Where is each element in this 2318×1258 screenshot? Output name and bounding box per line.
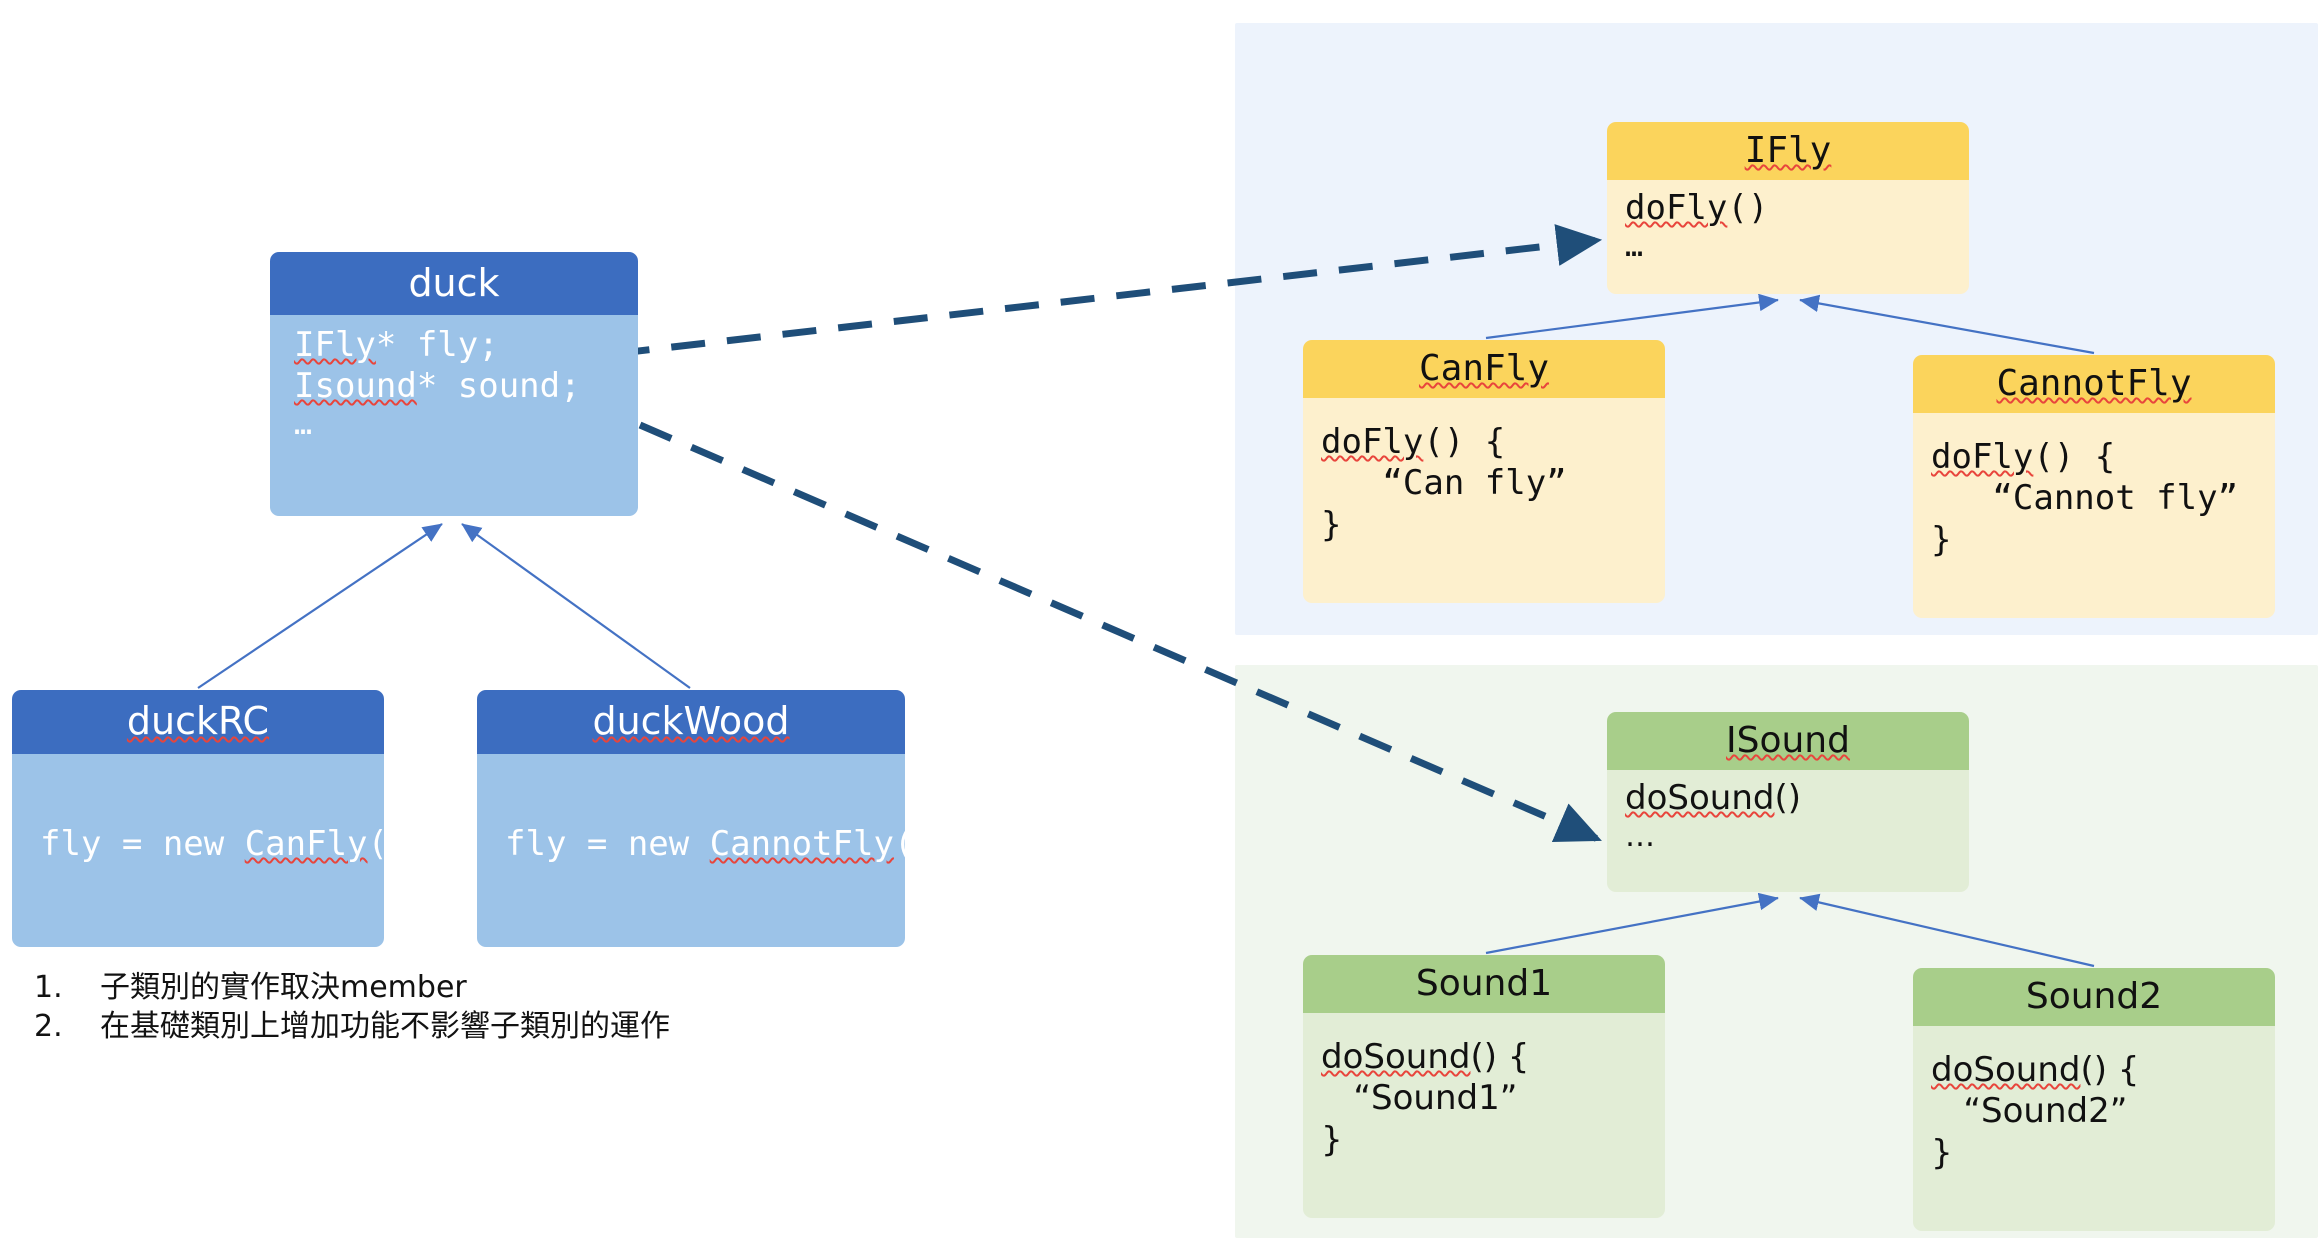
class-box-duckrc[interactable]: duckRC fly = new CanFly() [12, 690, 384, 947]
class-body-isound: doSound() … [1607, 770, 1969, 892]
member-line: Isound* sound; [294, 366, 638, 407]
member-line-ellipsis: … [1625, 229, 1969, 266]
member-line: IFly* fly; [294, 325, 638, 366]
class-box-canfly[interactable]: CanFly doFly() { “Can fly” } [1303, 340, 1665, 603]
class-title-duck: duck [270, 252, 638, 315]
member-line: doSound() { [1931, 1050, 2275, 1091]
class-box-ifly[interactable]: IFly doFly() … [1607, 122, 1969, 294]
member-line: fly = new CannotFly() [505, 824, 905, 865]
class-body-duck: IFly* fly; Isound* sound; … [270, 315, 638, 516]
member-line: doFly() { [1931, 437, 2275, 478]
class-body-cannotfly: doFly() { “Cannot fly” } [1913, 413, 2275, 618]
class-body-sound2: doSound() { “Sound2” } [1913, 1026, 2275, 1231]
class-title-sound1: Sound1 [1303, 955, 1665, 1013]
inheritance-duck-children [198, 524, 690, 688]
class-body-duckrc: fly = new CanFly() [12, 754, 384, 947]
member-line: “Sound2” [1931, 1091, 2275, 1132]
class-title-ifly: IFly [1607, 122, 1969, 180]
member-line: “Can fly” [1321, 463, 1665, 504]
class-title-canfly: CanFly [1303, 340, 1665, 398]
class-box-sound2[interactable]: Sound2 doSound() { “Sound2” } [1913, 968, 2275, 1231]
member-line-ellipsis: … [1625, 819, 1969, 856]
list-item: 1. 子類別的實作取決member [34, 968, 894, 1007]
member-line: doSound() { [1321, 1037, 1665, 1078]
class-box-duck[interactable]: duck IFly* fly; Isound* sound; … [270, 252, 638, 516]
class-title-isound: ISound [1607, 712, 1969, 770]
note-number: 1. [34, 968, 100, 1007]
member-line: fly = new CanFly() [40, 824, 384, 865]
note-text: 在基礎類別上增加功能不影響子類別的運作 [100, 1007, 894, 1046]
class-body-duckwood: fly = new CannotFly() [477, 754, 905, 947]
notes-list: 1. 子類別的實作取決member 2. 在基礎類別上增加功能不影響子類別的運作 [34, 968, 894, 1046]
class-box-sound1[interactable]: Sound1 doSound() { “Sound1” } [1303, 955, 1665, 1218]
member-line: “Cannot fly” [1931, 478, 2275, 519]
list-item: 2. 在基礎類別上增加功能不影響子類別的運作 [34, 1007, 894, 1046]
member-line: doFly() [1625, 188, 1969, 229]
member-line: “Sound1” [1321, 1078, 1665, 1119]
member-line: } [1321, 505, 1665, 546]
member-line: doFly() { [1321, 422, 1665, 463]
class-box-cannotfly[interactable]: CannotFly doFly() { “Cannot fly” } [1913, 355, 2275, 618]
class-body-canfly: doFly() { “Can fly” } [1303, 398, 1665, 603]
member-line-ellipsis: … [294, 407, 638, 443]
diagram-canvas: IFly (dependency, dashed heavy) --> ISou… [0, 0, 2318, 1258]
member-line: } [1931, 1133, 2275, 1174]
member-line: doSound() [1625, 778, 1969, 819]
class-title-cannotfly: CannotFly [1913, 355, 2275, 413]
class-body-sound1: doSound() { “Sound1” } [1303, 1013, 1665, 1218]
class-box-isound[interactable]: ISound doSound() … [1607, 712, 1969, 892]
class-box-duckwood[interactable]: duckWood fly = new CannotFly() [477, 690, 905, 947]
note-text: 子類別的實作取決member [100, 968, 894, 1007]
member-line: } [1321, 1120, 1665, 1161]
class-body-ifly: doFly() … [1607, 180, 1969, 294]
member-line: } [1931, 520, 2275, 561]
note-number: 2. [34, 1007, 100, 1046]
class-title-sound2: Sound2 [1913, 968, 2275, 1026]
class-title-duckwood: duckWood [477, 690, 905, 754]
class-title-duckrc: duckRC [12, 690, 384, 754]
